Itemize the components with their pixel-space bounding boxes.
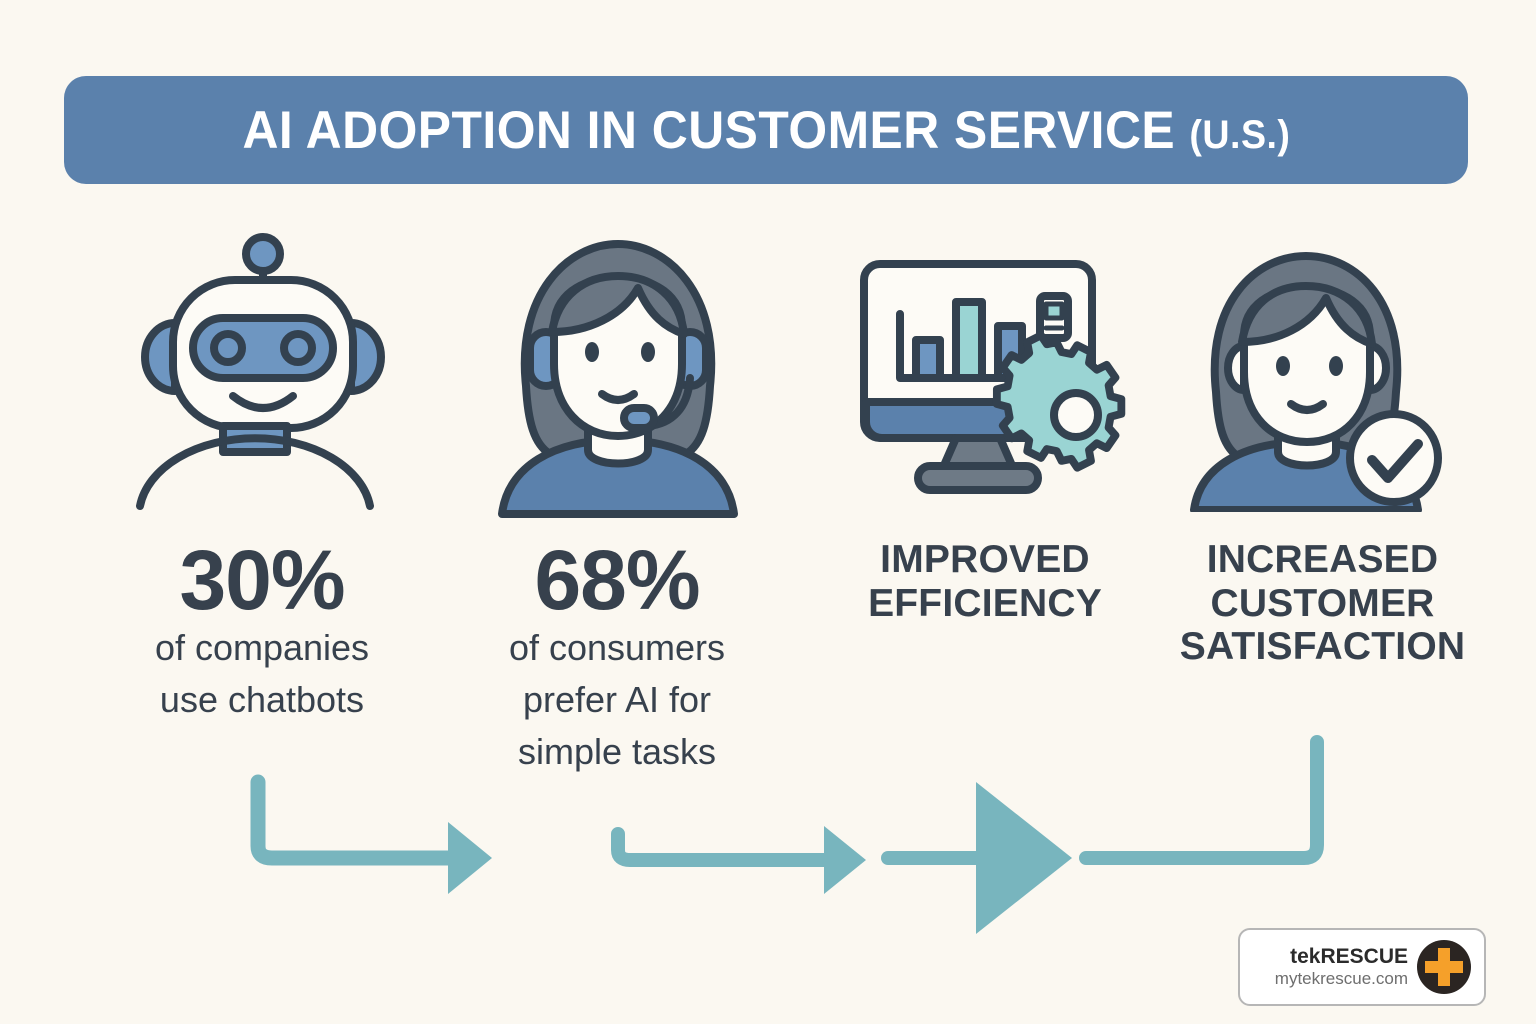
header-banner: AI ADOPTION IN CUSTOMER SERVICE (U.S.)	[64, 76, 1468, 184]
column-consumers-prefer-ai: 68% of consumers prefer AI for simple ta…	[452, 538, 782, 779]
column-companies-chatbots: 30% of companies use chatbots	[92, 538, 432, 726]
page-title-region: (U.S.)	[1189, 113, 1290, 157]
stat-value-68: 68%	[452, 538, 782, 622]
support-agent-icon	[488, 236, 748, 518]
benefit-line: INCREASED	[1150, 538, 1495, 582]
analytics-monitor-gear-icon	[848, 252, 1144, 504]
stat-value-30: 30%	[92, 538, 432, 622]
robot-icon	[118, 228, 408, 518]
arrow-efficiency-large	[888, 782, 1072, 934]
logo-url: mytekrescue.com	[1275, 969, 1408, 989]
stat-caption-companies: of companies use chatbots	[92, 622, 432, 726]
benefit-line: SATISFACTION	[1150, 625, 1495, 669]
satisfied-customer-check-icon	[1188, 252, 1464, 512]
logo-name: tekRESCUE	[1275, 945, 1408, 969]
page-title: AI ADOPTION IN CUSTOMER SERVICE (U.S.)	[242, 100, 1290, 161]
caption-line: of companies	[92, 622, 432, 674]
caption-line: of consumers	[452, 622, 782, 674]
caption-line: simple tasks	[452, 726, 782, 778]
arrow-chatbots-to-consumers	[258, 782, 492, 894]
benefit-title-efficiency: IMPROVED EFFICIENCY	[820, 538, 1150, 625]
benefit-line: CUSTOMER	[1150, 582, 1495, 626]
caption-line: use chatbots	[92, 674, 432, 726]
caption-line: prefer AI for	[452, 674, 782, 726]
page-title-main: AI ADOPTION IN CUSTOMER SERVICE	[242, 101, 1189, 160]
benefit-line: EFFICIENCY	[820, 582, 1150, 626]
logo-badge[interactable]: tekRESCUE mytekrescue.com	[1238, 928, 1486, 1006]
plus-cross-icon	[1416, 939, 1472, 995]
infographic-canvas: AI ADOPTION IN CUSTOMER SERVICE (U.S.)	[0, 0, 1536, 1024]
arrow-to-satisfaction	[1086, 742, 1317, 858]
arrow-consumers-to-efficiency	[618, 826, 866, 894]
benefit-line: IMPROVED	[820, 538, 1150, 582]
logo-text: tekRESCUE mytekrescue.com	[1275, 945, 1408, 990]
column-increased-satisfaction: INCREASED CUSTOMER SATISFACTION	[1150, 538, 1495, 669]
stat-caption-consumers: of consumers prefer AI for simple tasks	[452, 622, 782, 779]
benefit-title-satisfaction: INCREASED CUSTOMER SATISFACTION	[1150, 538, 1495, 669]
column-improved-efficiency: IMPROVED EFFICIENCY	[820, 538, 1150, 625]
